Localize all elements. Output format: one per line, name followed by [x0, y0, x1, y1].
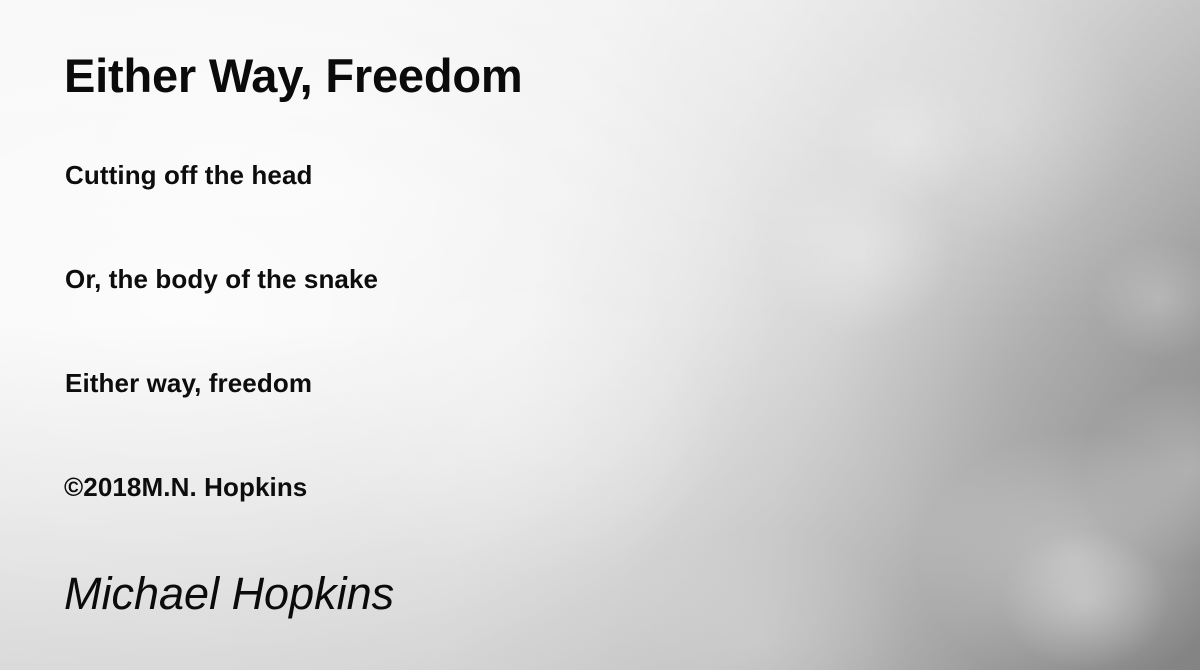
- poem-content: Either Way, Freedom Cutting off the head…: [0, 0, 1200, 670]
- poem-author-signature: Michael Hopkins: [64, 568, 394, 620]
- poem-copyright: ©2018M.N. Hopkins: [64, 472, 307, 503]
- poem-line-1: Cutting off the head: [65, 161, 313, 190]
- poem-title: Either Way, Freedom: [64, 51, 522, 100]
- poem-image-card: Either Way, Freedom Cutting off the head…: [0, 0, 1200, 670]
- poem-line-2: Or, the body of the snake: [65, 265, 378, 294]
- poem-line-3: Either way, freedom: [65, 369, 312, 398]
